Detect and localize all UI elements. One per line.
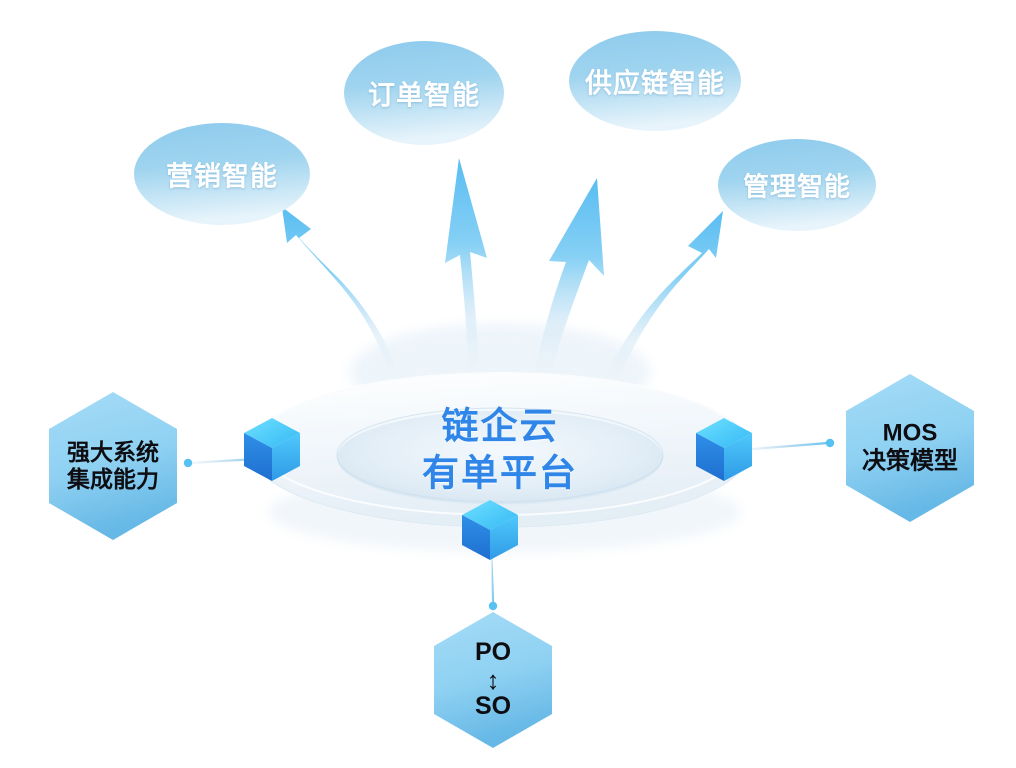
hexagon-label-po-so: PO ↕ SO bbox=[475, 638, 511, 722]
bubble-label-supply-chain: 供应链智能 bbox=[585, 62, 725, 101]
hexagon-label-system-integration: 强大系统 集成能力 bbox=[67, 439, 159, 493]
platform-core-line1: 链企云 bbox=[422, 403, 578, 450]
platform-core-label: 链企云 有单平台 bbox=[422, 403, 578, 498]
bubble-label-management: 管理智能 bbox=[743, 167, 851, 204]
connector-left-dot bbox=[184, 459, 192, 467]
platform-core-line2: 有单平台 bbox=[422, 450, 578, 497]
hexagon-mos-line1: MOS bbox=[862, 420, 958, 448]
hexagon-label-mos-decision-model: MOS 决策模型 bbox=[862, 420, 958, 477]
connector-bottom-dot bbox=[489, 602, 497, 610]
connector-right-line bbox=[740, 443, 828, 450]
hexagon-mos-line2: 决策模型 bbox=[862, 448, 958, 476]
hexagon-system-integration-line1: 强大系统 bbox=[67, 439, 159, 466]
hexagon-po-label: PO bbox=[475, 638, 511, 668]
diagram-canvas: 营销智能 订单智能 供应链智能 管理智能 链企云 有单平台 强大系统 集成能力 … bbox=[0, 0, 1016, 768]
hexagon-system-integration-line2: 集成能力 bbox=[67, 466, 159, 493]
bubble-label-order: 订单智能 bbox=[368, 74, 480, 113]
hexagon-so-label: SO bbox=[475, 692, 511, 722]
updown-arrow-icon: ↕ bbox=[475, 668, 511, 693]
bubble-label-marketing: 营销智能 bbox=[166, 155, 278, 194]
connector-right-dot bbox=[826, 439, 834, 447]
arrow-to-management-icon bbox=[604, 211, 723, 384]
